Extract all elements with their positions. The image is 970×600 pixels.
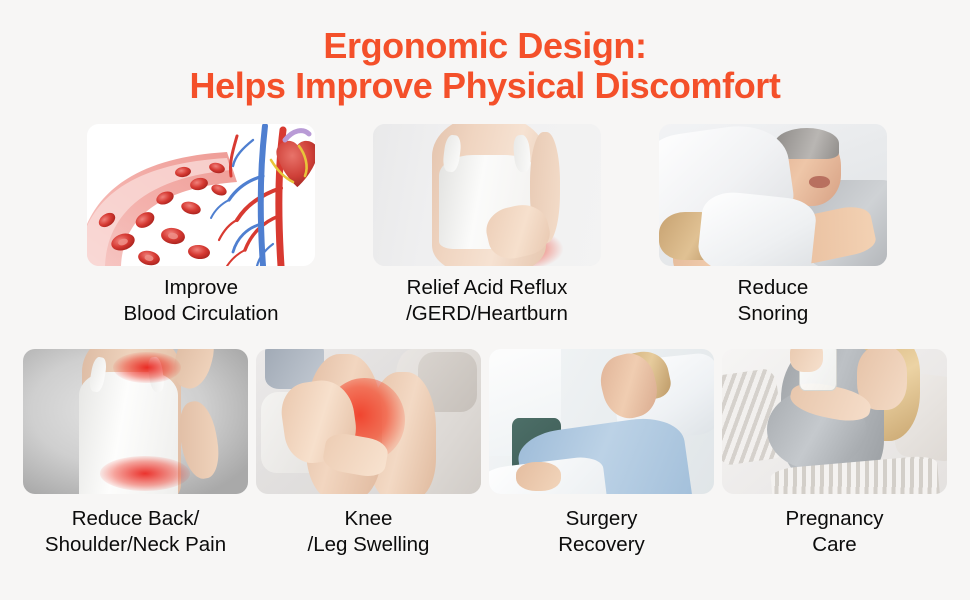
blood-vessel-heart-svg: [87, 124, 315, 266]
benefit-row-2: Reduce Back/ Shoulder/Neck Pain Knee /Le…: [0, 349, 970, 558]
caption-line-1: Knee: [345, 507, 393, 530]
caption-line-2: Snoring: [738, 302, 809, 325]
caption-line-1: Surgery: [566, 507, 638, 530]
patient-hands: [516, 462, 561, 491]
benefit-card-pregnancy-care: Pregnancy Care: [722, 349, 947, 558]
benefit-caption: Relief Acid Reflux /GERD/Heartburn: [406, 275, 568, 327]
caption-line-2: Blood Circulation: [124, 302, 279, 325]
knee-pain-scene: [256, 349, 481, 494]
hospital-bed-scene: [489, 349, 714, 494]
back-pain-scene: [23, 349, 248, 494]
benefit-caption: Knee /Leg Swelling: [308, 506, 430, 558]
benefit-card-back-pain: Reduce Back/ Shoulder/Neck Pain: [23, 349, 248, 558]
caption-line-2: Care: [812, 533, 856, 556]
caption-line-2: Recovery: [558, 533, 645, 556]
benefit-card-blood-circulation: Improve Blood Circulation: [87, 124, 315, 327]
caption-line-1: Pregnancy: [785, 507, 883, 530]
benefit-card-acid-reflux: Relief Acid Reflux /GERD/Heartburn: [373, 124, 601, 327]
benefit-caption: Pregnancy Care: [785, 506, 883, 558]
back-neck-pain-photo: [23, 349, 248, 494]
benefit-row-1: Improve Blood Circulation Relief Acid Re…: [0, 124, 970, 327]
acid-reflux-photo: [373, 124, 601, 266]
snoring-scene: [659, 124, 887, 266]
snoring-couple-photo: [659, 124, 887, 266]
surgery-recovery-photo: [489, 349, 714, 494]
benefit-card-surgery-recovery: Surgery Recovery: [489, 349, 714, 558]
caption-line-1: Reduce: [738, 276, 809, 299]
knee-swelling-photo: [256, 349, 481, 494]
benefit-caption: Reduce Snoring: [738, 275, 809, 327]
benefit-caption: Reduce Back/ Shoulder/Neck Pain: [45, 506, 226, 558]
pillow-over-ear: [696, 189, 818, 266]
blood-circulation-illustration: [87, 124, 315, 266]
page-title: Ergonomic Design: Helps Improve Physical…: [0, 0, 970, 107]
pregnancy-scene: [722, 349, 947, 494]
caption-line-2: Shoulder/Neck Pain: [45, 533, 226, 556]
caption-line-1: Reduce Back/: [72, 507, 200, 530]
open-mouth: [809, 176, 830, 187]
title-line-2: Helps Improve Physical Discomfort: [0, 66, 970, 106]
hand-holding-glass: [790, 349, 824, 372]
benefit-card-snoring: Reduce Snoring: [659, 124, 887, 327]
title-line-1: Ergonomic Design:: [0, 26, 970, 66]
neck-pain-glow-icon: [113, 352, 181, 384]
benefit-caption: Improve Blood Circulation: [124, 275, 279, 327]
caption-line-2: /GERD/Heartburn: [406, 302, 568, 325]
acid-reflux-scene: [373, 124, 601, 266]
caption-line-1: Improve: [164, 276, 238, 299]
pregnancy-care-photo: [722, 349, 947, 494]
caption-line-2: /Leg Swelling: [308, 533, 430, 556]
benefit-caption: Surgery Recovery: [558, 506, 645, 558]
lower-back-pain-glow-icon: [100, 456, 190, 491]
benefit-card-knee-swelling: Knee /Leg Swelling: [256, 349, 481, 558]
caption-line-1: Relief Acid Reflux: [407, 276, 568, 299]
